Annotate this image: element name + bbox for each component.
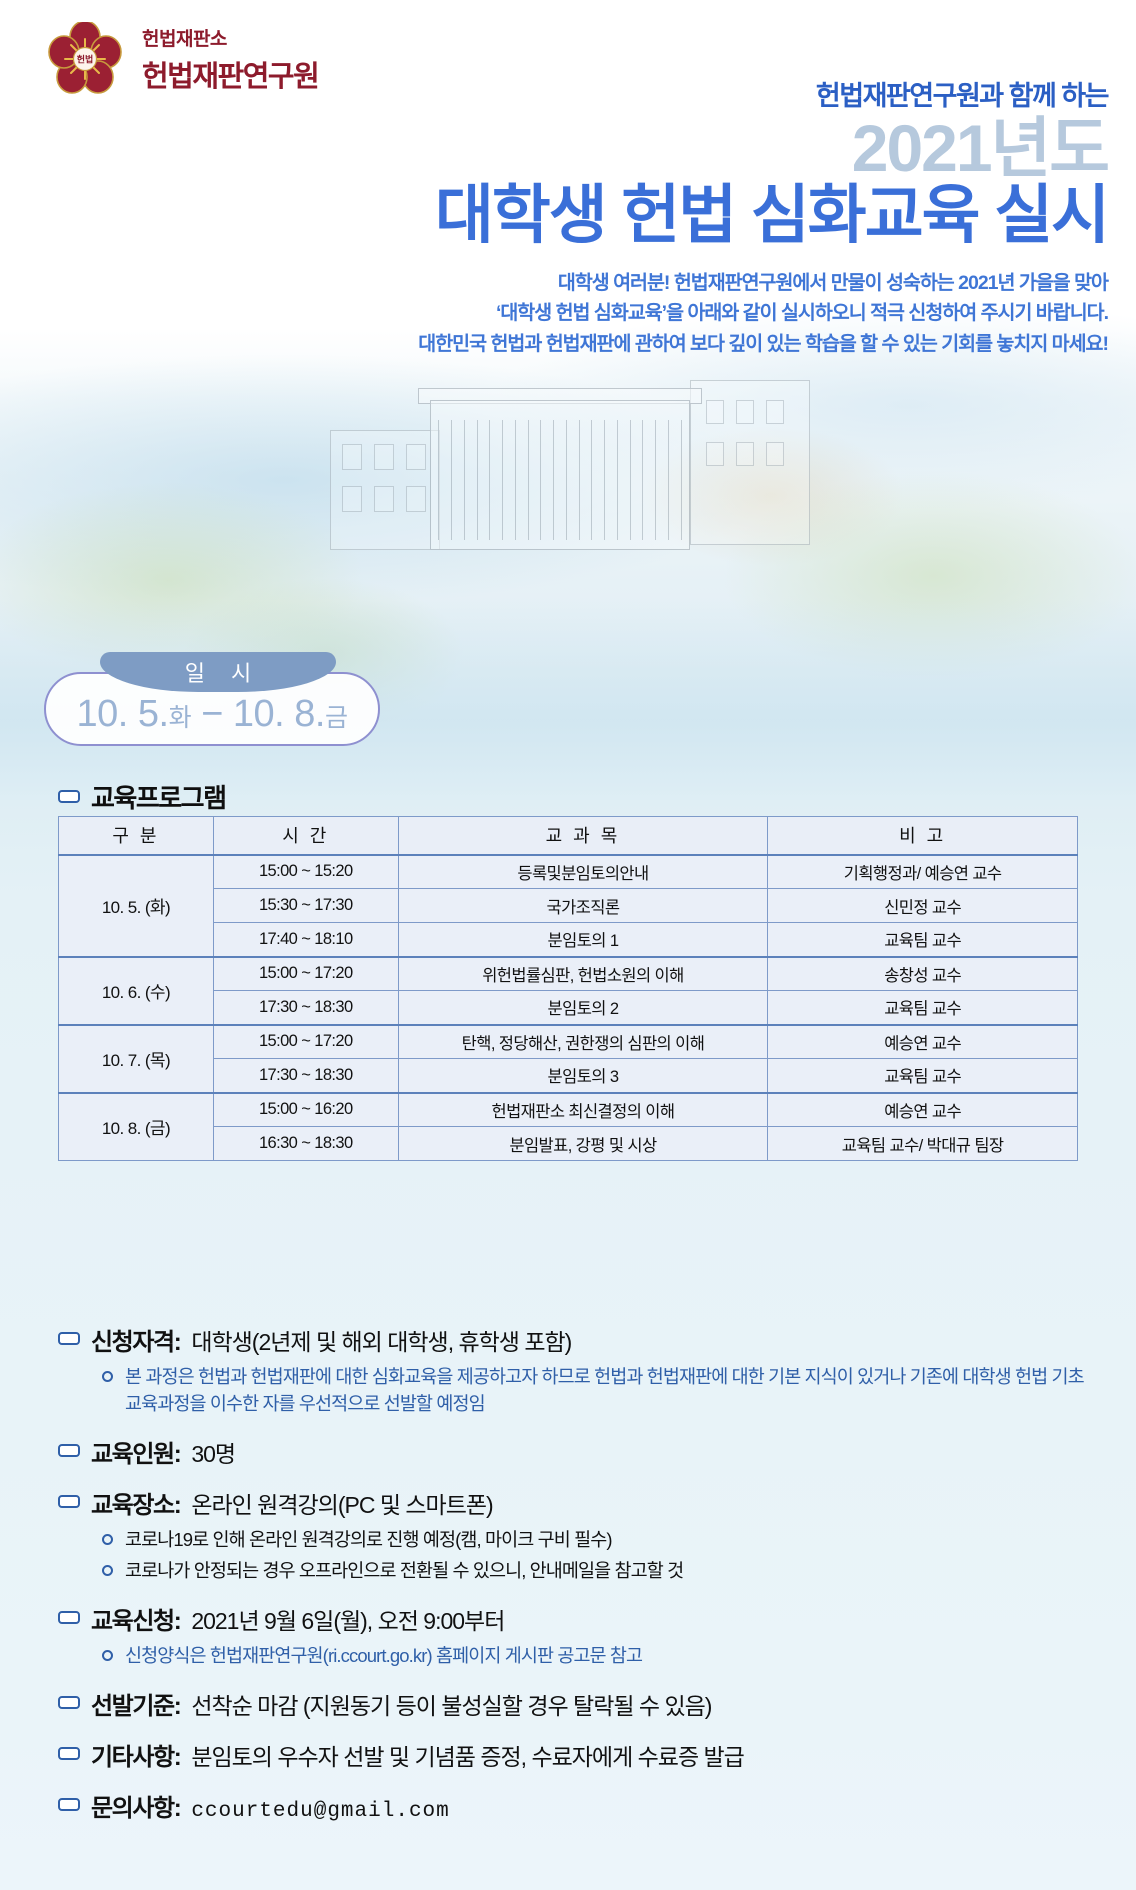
detail-value: 분임토의 우수자 선발 및 기념품 증정, 수료자에게 수료증 발급 [191, 1738, 744, 1772]
detail-row: 신청자격:대학생(2년제 및 해외 대학생, 휴학생 포함) [58, 1322, 1088, 1357]
building-window [766, 400, 784, 424]
square-bullet-icon [58, 1332, 80, 1345]
detail-row: 기타사항:분임토의 우수자 선발 및 기념품 증정, 수료자에게 수료증 발급 [58, 1737, 1088, 1772]
cell-day: 10. 7. (목) [59, 1025, 214, 1093]
detail-value: 선착순 마감 (지원동기 등이 불성실할 경우 탈락될 수 있음) [191, 1687, 711, 1721]
ring-bullet-icon [102, 1534, 113, 1545]
page-title: 대학생 헌법 심화교육 실시 [228, 180, 1108, 250]
table-row: 10. 7. (목)15:00 ~ 17:20탄핵, 정당해산, 권한쟁의 심판… [59, 1025, 1078, 1059]
column-header-note: 비 고 [768, 817, 1078, 855]
detail-value: 대학생(2년제 및 해외 대학생, 휴학생 포함) [191, 1323, 571, 1357]
building-columns [438, 420, 682, 540]
program-section-title: 교육프로그램 [91, 778, 226, 815]
ring-bullet-icon [102, 1565, 113, 1576]
square-bullet-icon [58, 1696, 80, 1709]
cell-subject: 탄핵, 정당해산, 권한쟁의 심판의 이해 [398, 1025, 768, 1059]
cell-note: 기획행정과/ 예승연 교수 [768, 855, 1078, 889]
detail-row: 교육장소:온라인 원격강의(PC 및 스마트폰) [58, 1485, 1088, 1520]
detail-item: 문의사항:ccourtedu@gmail.com [58, 1788, 1088, 1823]
cell-day: 10. 6. (수) [59, 957, 214, 1025]
courthouse-illustration [400, 360, 730, 560]
ring-bullet-icon [102, 1371, 113, 1382]
cell-time: 15:00 ~ 17:20 [213, 1025, 398, 1059]
detail-item: 선발기준:선착순 마감 (지원동기 등이 불성실할 경우 탈락될 수 있음) [58, 1686, 1088, 1721]
list-item: 본 과정은 헌법과 헌법재판에 대한 심화교육을 제공하고자 하므로 헌법과 헌… [102, 1364, 1088, 1418]
date-separator: − [201, 693, 223, 735]
table-row: 10. 6. (수)15:00 ~ 17:20위헌법률심판, 헌법소원의 이해송… [59, 957, 1078, 991]
cell-note: 교육팀 교수/ 박대규 팀장 [768, 1127, 1078, 1161]
detail-value[interactable]: ccourtedu@gmail.com [191, 1800, 449, 1823]
square-bullet-icon [58, 1611, 80, 1624]
building-window [374, 444, 394, 470]
detail-note-text: 본 과정은 헌법과 헌법재판에 대한 심화교육을 제공하고자 하므로 헌법과 헌… [125, 1364, 1088, 1418]
building-window [374, 486, 394, 512]
details-list: 신청자격:대학생(2년제 및 해외 대학생, 휴학생 포함)본 과정은 헌법과 … [58, 1322, 1088, 1839]
cell-note: 교육팀 교수 [768, 1059, 1078, 1093]
detail-note-list: 코로나19로 인해 온라인 원격강의로 진행 예정(캠, 마이크 구비 필수)코… [102, 1527, 1088, 1586]
detail-value: 30명 [191, 1435, 235, 1469]
cell-note: 교육팀 교수 [768, 991, 1078, 1025]
detail-item: 교육신청:2021년 9월 6일(월), 오전 9:00부터신청양식은 헌법재판… [58, 1601, 1088, 1670]
date-start-dow: 화 [169, 704, 192, 732]
detail-label: 교육신청: [91, 1601, 180, 1636]
building-window [706, 400, 724, 424]
list-item: 코로나19로 인해 온라인 원격강의로 진행 예정(캠, 마이크 구비 필수) [102, 1527, 1088, 1554]
cell-day: 10. 8. (금) [59, 1093, 214, 1161]
detail-row: 문의사항:ccourtedu@gmail.com [58, 1788, 1088, 1823]
list-item: 코로나가 안정되는 경우 오프라인으로 전환될 수 있으니, 안내메일을 참고할… [102, 1558, 1088, 1585]
detail-note-list: 신청양식은 헌법재판연구원(ri.ccourt.go.kr) 홈페이지 게시판 … [102, 1643, 1088, 1670]
cell-subject: 헌법재판소 최신결정의 이해 [398, 1093, 768, 1127]
column-header-day: 구 분 [59, 817, 214, 855]
square-bullet-icon [58, 1798, 80, 1811]
building-window [766, 442, 784, 466]
cell-day: 10. 5. (화) [59, 855, 214, 957]
detail-label: 교육장소: [91, 1485, 180, 1520]
cell-note: 예승연 교수 [768, 1025, 1078, 1059]
detail-note-list: 본 과정은 헌법과 헌법재판에 대한 심화교육을 제공하고자 하므로 헌법과 헌… [102, 1364, 1088, 1418]
detail-item: 신청자격:대학생(2년제 및 해외 대학생, 휴학생 포함)본 과정은 헌법과 … [58, 1322, 1088, 1418]
cell-note: 송창성 교수 [768, 957, 1078, 991]
hibiscus-emblem-icon: 헌법 [46, 22, 124, 96]
date-end: 10. 8. [233, 693, 325, 735]
column-header-subject: 교 과 목 [398, 817, 768, 855]
square-bullet-icon [58, 1495, 80, 1508]
program-table: 구 분 시 간 교 과 목 비 고 10. 5. (화)15:00 ~ 15:2… [58, 816, 1078, 1161]
building-window [736, 442, 754, 466]
detail-note-text: 코로나19로 인해 온라인 원격강의로 진행 예정(캠, 마이크 구비 필수) [125, 1527, 612, 1554]
cell-subject: 등록및분임토의안내 [398, 855, 768, 889]
logo-org-sub: 헌법재판소 [142, 24, 318, 51]
square-bullet-icon [58, 1444, 80, 1457]
cell-subject: 분임토의 2 [398, 991, 768, 1025]
building-window [706, 442, 724, 466]
lede-line-1: 대학생 여러분! 헌법재판연구원에서 만물이 성숙하는 2021년 가을을 맞아 [228, 268, 1108, 298]
cell-time: 17:30 ~ 18:30 [213, 991, 398, 1025]
detail-row: 선발기준:선착순 마감 (지원동기 등이 불성실할 경우 탈락될 수 있음) [58, 1686, 1088, 1721]
cell-subject: 위헌법률심판, 헌법소원의 이해 [398, 957, 768, 991]
detail-item: 기타사항:분임토의 우수자 선발 및 기념품 증정, 수료자에게 수료증 발급 [58, 1737, 1088, 1772]
table-row: 10. 5. (화)15:00 ~ 15:20등록및분임토의안내기획행정과/ 예… [59, 855, 1078, 889]
lede-line-2: ‘대학생 헌법 심화교육’을 아래와 같이 실시하오니 적극 신청하여 주시기 … [228, 298, 1108, 328]
cell-time: 15:00 ~ 15:20 [213, 855, 398, 889]
cell-note: 예승연 교수 [768, 1093, 1078, 1127]
detail-row: 교육인원:30명 [58, 1434, 1088, 1469]
cell-time: 15:30 ~ 17:30 [213, 889, 398, 923]
building-window [406, 444, 426, 470]
detail-label: 선발기준: [91, 1686, 180, 1721]
date-end-dow: 금 [325, 704, 348, 732]
detail-row: 교육신청:2021년 9월 6일(월), 오전 9:00부터 [58, 1601, 1088, 1636]
table-header-row: 구 분 시 간 교 과 목 비 고 [59, 817, 1078, 855]
program-section-heading: 교육프로그램 [58, 778, 226, 815]
detail-value: 2021년 9월 6일(월), 오전 9:00부터 [191, 1602, 504, 1636]
building-window [406, 486, 426, 512]
building-window [342, 444, 362, 470]
cell-subject: 분임토의 3 [398, 1059, 768, 1093]
headline-kicker: 헌법재판연구원과 함께 하는 [228, 80, 1108, 112]
headline-lede: 대학생 여러분! 헌법재판연구원에서 만물이 성숙하는 2021년 가을을 맞아… [228, 268, 1108, 359]
lede-line-3: 대한민국 헌법과 헌법재판에 관하여 보다 깊이 있는 학습을 할 수 있는 기… [228, 329, 1108, 359]
poster-canvas: 헌법 헌법재판소 헌법재판연구원 헌법재판연구원과 함께 하는 2021년도 대… [0, 0, 1136, 1890]
detail-label: 문의사항: [91, 1788, 180, 1823]
ring-bullet-icon [102, 1650, 113, 1661]
cell-subject: 분임토의 1 [398, 923, 768, 957]
detail-item: 교육인원:30명 [58, 1434, 1088, 1469]
list-item: 신청양식은 헌법재판연구원(ri.ccourt.go.kr) 홈페이지 게시판 … [102, 1643, 1088, 1670]
cell-subject: 분임발표, 강평 및 시상 [398, 1127, 768, 1161]
svg-text:헌법: 헌법 [77, 54, 94, 65]
detail-item: 교육장소:온라인 원격강의(PC 및 스마트폰)코로나19로 인해 온라인 원격… [58, 1485, 1088, 1586]
program-table-body: 10. 5. (화)15:00 ~ 15:20등록및분임토의안내기획행정과/ 예… [59, 855, 1078, 1161]
cell-time: 15:00 ~ 16:20 [213, 1093, 398, 1127]
cell-subject: 국가조직론 [398, 889, 768, 923]
detail-label: 기타사항: [91, 1737, 180, 1772]
detail-label: 신청자격: [91, 1322, 180, 1357]
detail-value: 온라인 원격강의(PC 및 스마트폰) [191, 1486, 492, 1520]
detail-label: 교육인원: [91, 1434, 180, 1469]
cell-time: 16:30 ~ 18:30 [213, 1127, 398, 1161]
headline-block: 헌법재판연구원과 함께 하는 2021년도 대학생 헌법 심화교육 실시 대학생… [228, 80, 1108, 359]
cell-note: 신민정 교수 [768, 889, 1078, 923]
building-window [342, 486, 362, 512]
cell-time: 17:30 ~ 18:30 [213, 1059, 398, 1093]
square-bullet-icon [58, 1747, 80, 1760]
building-window [736, 400, 754, 424]
cell-note: 교육팀 교수 [768, 923, 1078, 957]
table-row: 10. 8. (금)15:00 ~ 16:20헌법재판소 최신결정의 이해예승연… [59, 1093, 1078, 1127]
headline-year: 2021년도 [228, 114, 1108, 183]
cell-time: 15:00 ~ 17:20 [213, 957, 398, 991]
detail-note-text: 신청양식은 헌법재판연구원(ri.ccourt.go.kr) 홈페이지 게시판 … [125, 1643, 642, 1670]
column-header-time: 시 간 [213, 817, 398, 855]
detail-note-text: 코로나가 안정되는 경우 오프라인으로 전환될 수 있으니, 안내메일을 참고할… [125, 1558, 683, 1585]
date-start: 10. 5. [76, 693, 168, 735]
square-bullet-icon [58, 790, 80, 803]
cell-time: 17:40 ~ 18:10 [213, 923, 398, 957]
